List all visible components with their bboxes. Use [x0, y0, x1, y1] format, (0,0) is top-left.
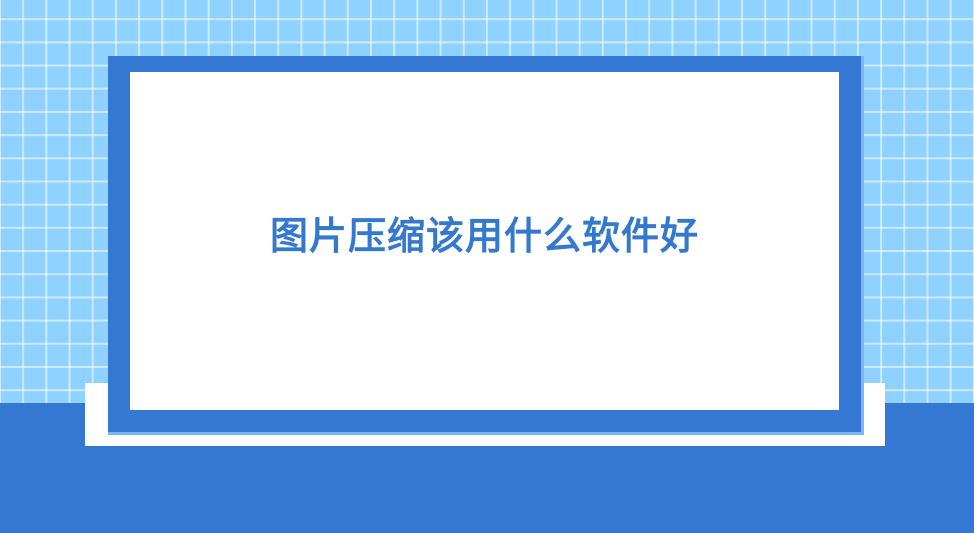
- frame-right-highlight-edge: [861, 56, 864, 435]
- page-title: 图片压缩该用什么软件好: [270, 218, 699, 256]
- slide-canvas: 图片压缩该用什么软件好: [0, 0, 974, 533]
- frame-bottom-highlight-edge: [108, 432, 864, 435]
- white-content-card: 图片压缩该用什么软件好: [130, 72, 839, 410]
